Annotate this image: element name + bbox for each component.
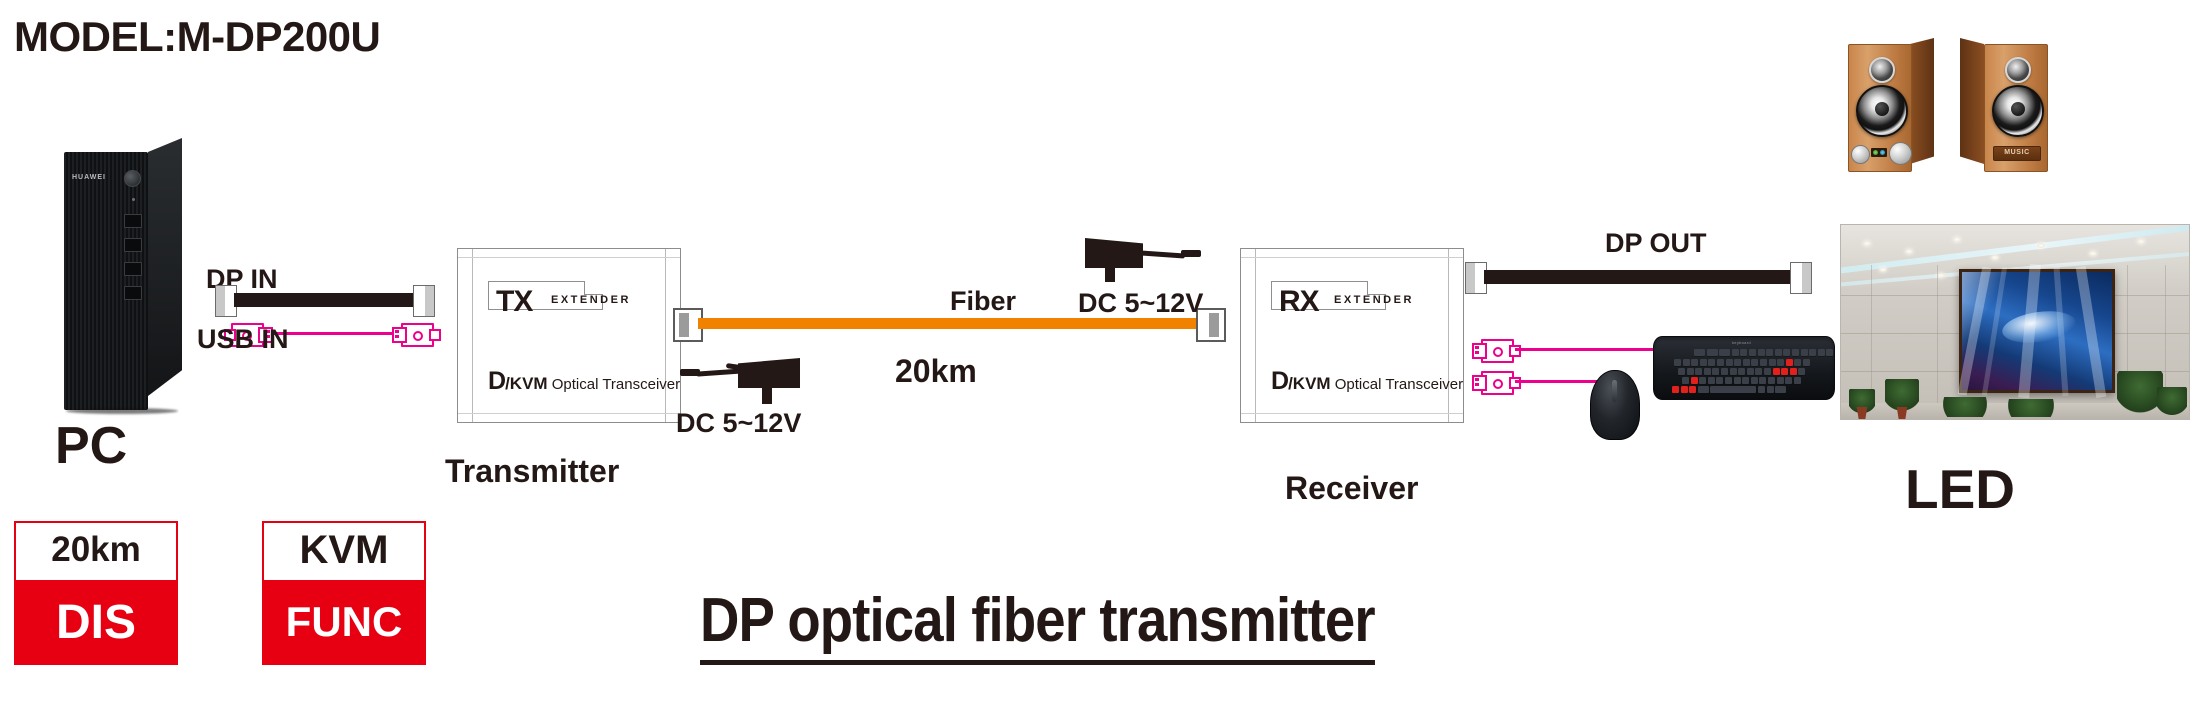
music-plate: MUSIC [1993, 146, 2041, 161]
dc-transmitter-label: DC 5~12V [676, 408, 801, 439]
led-video-wall [1959, 269, 2115, 393]
fiber-distance-label: 20km [895, 355, 977, 387]
usb-plug-right [392, 323, 436, 343]
rx-brandline: D/KVM Optical Transceiver [1271, 367, 1463, 396]
led-label: LED [1905, 462, 2015, 517]
dp-out-connector-right [1790, 262, 1812, 294]
audio-port-icon [124, 286, 142, 300]
tx-suffix: EXTENDER [551, 294, 631, 306]
usb-port-icon [124, 262, 142, 276]
badge-distance-bottom: DIS [15, 580, 177, 664]
usb-mouse-cable [1515, 380, 1603, 383]
pc-front-panel: HUAWEI [64, 152, 148, 410]
badge-distance-top: 20km [16, 523, 176, 577]
jack-panel [1871, 148, 1887, 157]
transmitter-label: Transmitter [445, 455, 619, 487]
power-button-icon [124, 170, 141, 187]
rx-code: RX [1279, 285, 1319, 319]
dp-in-cable [234, 293, 414, 307]
fiber-cable [698, 318, 1198, 329]
kvm-text: /KVM [505, 374, 548, 393]
tx-code: TX [496, 285, 532, 319]
dp-logo-letter: D [488, 367, 505, 395]
music-plate-text: MUSIC [1994, 149, 2040, 156]
pc-side-panel [148, 138, 182, 396]
speaker-right: MUSIC [1960, 44, 2046, 170]
dc-adapter-transmitter [680, 352, 800, 404]
volume-knob[interactable] [1851, 145, 1870, 164]
dp-connector-right [413, 285, 435, 317]
pc-brand-label: HUAWEI [72, 174, 106, 181]
badge-kvm-top: KVM [264, 523, 424, 577]
tx-logo-badge: TX EXTENDER [488, 281, 603, 310]
kvm-text: /KVM [1288, 374, 1331, 393]
led-indicator-icon [132, 198, 135, 201]
tweeter-icon [2005, 57, 2031, 83]
badge-kvm: KVM FUNC [262, 521, 426, 665]
keyboard-brand-icon: keyboard [1732, 340, 1751, 345]
usb-in-cable [272, 332, 395, 335]
dp-out-label: DP OUT [1605, 230, 1707, 257]
usb-keyboard-cable [1515, 348, 1663, 351]
pc-shadow [66, 408, 178, 414]
pc-label: PC [55, 420, 127, 472]
tx-brandline: D/KVM Optical Transceiver [488, 367, 680, 396]
optical-transceiver-text: Optical Transceiver [552, 376, 680, 393]
led-display-photo [1840, 224, 2190, 420]
model-title: MODEL:M-DP200U [14, 16, 380, 58]
speaker-pair: MUSIC [1848, 36, 2058, 176]
keyboard[interactable]: keyboard [1653, 336, 1835, 400]
usb-port-icon [124, 238, 142, 252]
dc-receiver-label: DC 5~12V [1078, 288, 1203, 319]
rx-suffix: EXTENDER [1334, 294, 1414, 306]
speaker-left [1848, 44, 1934, 170]
pc-tower: HUAWEI [64, 138, 184, 418]
mouse[interactable] [1590, 370, 1640, 440]
woofer-icon [1856, 85, 1908, 137]
power-knob[interactable] [1889, 142, 1912, 165]
rx-logo-badge: RX EXTENDER [1271, 281, 1386, 310]
fiber-label: Fiber [950, 288, 1016, 315]
usb-plug-mouse [1472, 371, 1516, 391]
dp-out-cable [1484, 270, 1791, 284]
optical-transceiver-text: Optical Transceiver [1335, 376, 1463, 393]
dc-adapter-receiver [1085, 238, 1205, 288]
receiver-device[interactable]: RX EXTENDER D/KVM Optical Transceiver [1240, 248, 1464, 423]
badge-distance: 20km DIS [14, 521, 178, 665]
woofer-icon [1992, 85, 2044, 137]
badge-kvm-bottom: FUNC [263, 580, 425, 664]
usb-plug-keyboard [1472, 339, 1516, 359]
bottom-title: DP optical fiber transmitter [700, 585, 1375, 665]
usb-port-icon [124, 214, 142, 228]
receiver-label: Receiver [1285, 472, 1418, 504]
usb-in-label: USB IN [197, 326, 289, 353]
transmitter-device[interactable]: TX EXTENDER D/KVM Optical Transceiver [457, 248, 681, 423]
tweeter-icon [1869, 57, 1895, 83]
dp-logo-letter: D [1271, 367, 1288, 395]
